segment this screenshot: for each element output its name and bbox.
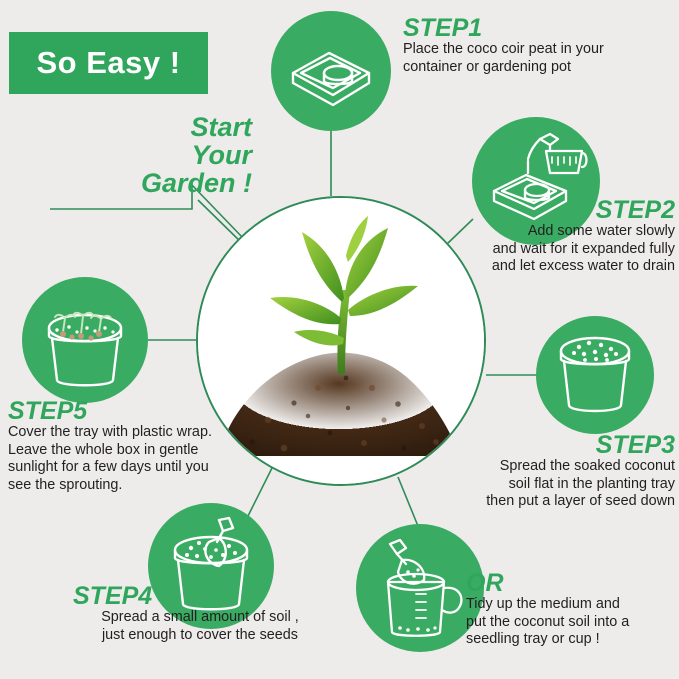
step2-title: STEP2 [393,197,675,223]
tagline-start-your-garden: Start Your Garden ! [62,113,252,197]
step2-text-block: STEP2 Add some water slowly and wait for… [393,197,675,276]
pot-with-seeds-icon [549,329,641,421]
step5-icon-circle [22,277,148,403]
step5-title: STEP5 [8,398,258,424]
step3-text-block: STEP3 Spread the soaked coconut soil fla… [390,432,675,511]
step5-body: Cover the tray with plastic wrap. Leave … [8,424,258,494]
trowel-into-measuring-cup-icon [368,536,472,640]
or-icon-circle [356,524,484,652]
step1-body: Place the coco coir peat in your contain… [403,41,673,76]
tray-with-coir-disc-icon [285,25,377,117]
infographic-canvas: So Easy ! Start Your Garden ! [0,0,679,679]
banner-label: So Easy ! [36,45,180,81]
step4-text-block: STEP4 Spread a small amount of soil , ju… [55,583,345,644]
step5-text-block: STEP5 Cover the tray with plastic wrap. … [8,398,258,494]
or-title: OR [466,570,679,596]
step1-icon-circle [271,11,391,131]
step3-icon-circle [536,316,654,434]
step1-title: STEP1 [403,15,673,41]
step4-body: Spread a small amount of soil , just eno… [55,609,345,644]
pot-with-sprouts-icon [35,290,135,390]
step2-body: Add some water slowly and wait for it ex… [393,223,675,276]
step1-text-block: STEP1 Place the coco coir peat in your c… [403,15,673,76]
or-body: Tidy up the medium and put the coconut s… [466,596,679,649]
step3-title: STEP3 [390,432,675,458]
step4-title: STEP4 [73,583,345,609]
or-text-block: OR Tidy up the medium and put the coconu… [466,570,679,649]
banner-so-easy: So Easy ! [9,32,208,94]
step3-body: Spread the soaked coconut soil flat in t… [390,458,675,511]
